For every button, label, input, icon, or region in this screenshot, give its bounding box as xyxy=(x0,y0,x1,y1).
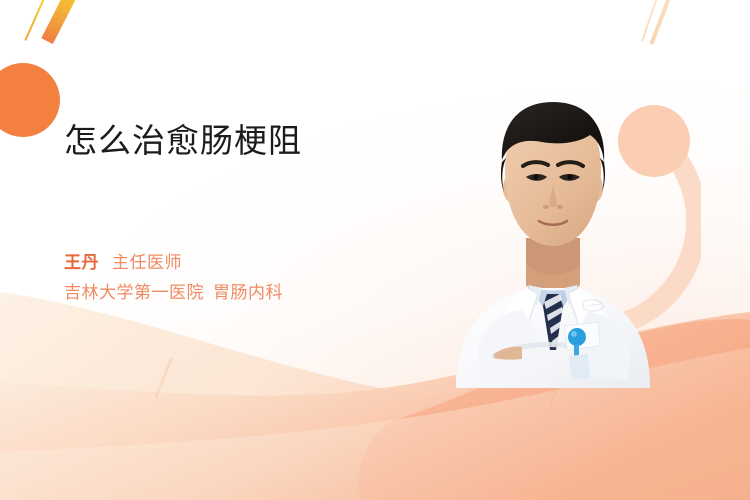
hospital-name: 吉林大学第一医院 xyxy=(64,283,204,302)
doctor-title: 主任医师 xyxy=(112,253,182,272)
doctor-affiliation: 吉林大学第一医院胃肠内科 xyxy=(64,278,464,308)
doctor-name: 王丹 xyxy=(64,253,99,272)
video-cover-card: 怎么治愈肠梗阻 王丹主任医师 吉林大学第一医院胃肠内科 xyxy=(0,0,750,500)
blue-badge-icon xyxy=(568,328,586,346)
text-block: 怎么治愈肠梗阻 王丹主任医师 吉林大学第一医院胃肠内科 xyxy=(64,118,464,308)
doctor-byline: 王丹主任医师 xyxy=(64,248,464,278)
department-name: 胃肠内科 xyxy=(213,283,283,302)
badge-clip xyxy=(574,344,579,356)
badge-card xyxy=(569,354,590,380)
page-title: 怎么治愈肠梗阻 xyxy=(64,118,464,164)
doctor-portrait xyxy=(438,88,668,388)
